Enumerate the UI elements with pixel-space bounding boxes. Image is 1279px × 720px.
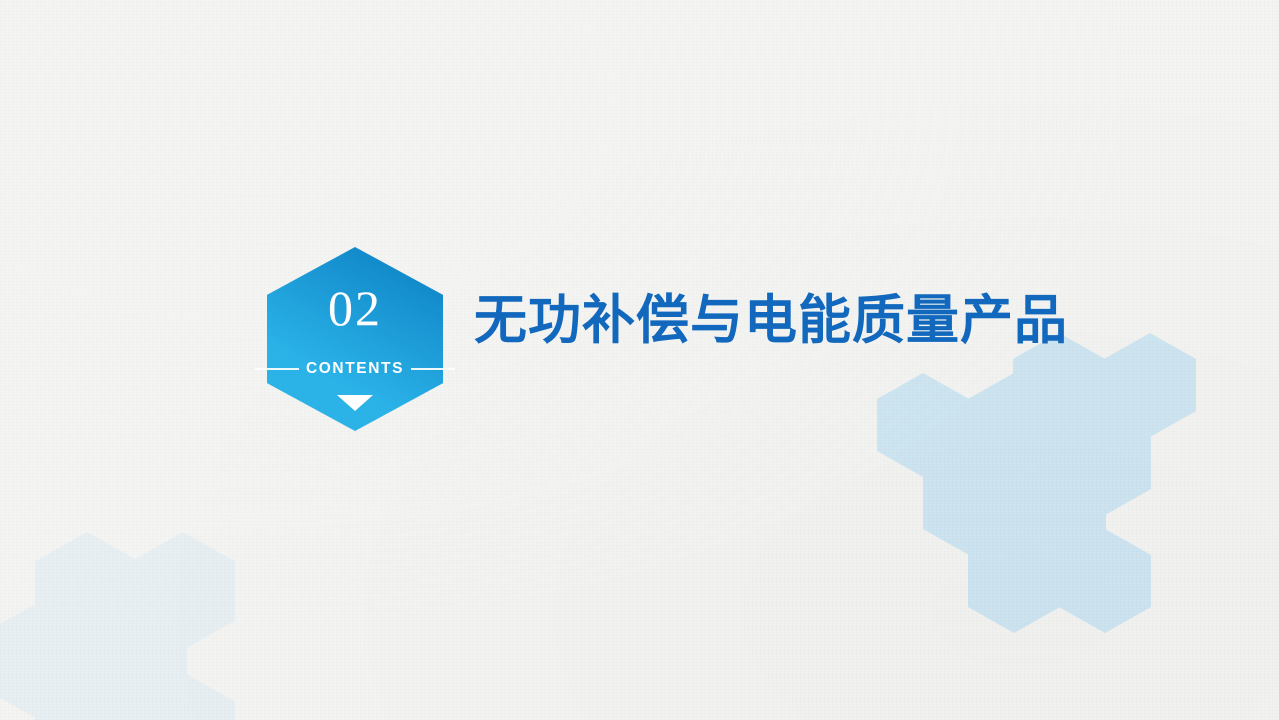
paper-texture-overlay bbox=[0, 0, 1279, 720]
rule-left bbox=[255, 368, 299, 370]
hexagon-shape bbox=[35, 672, 139, 720]
contents-rule-row: CONTENTS bbox=[255, 361, 455, 377]
hexagon-shape bbox=[968, 529, 1060, 633]
contents-label: CONTENTS bbox=[306, 361, 404, 377]
hexagon-shape bbox=[0, 602, 91, 720]
hexagon-shape bbox=[1014, 451, 1106, 555]
section-number: 02 bbox=[267, 283, 443, 333]
hexagon-shape bbox=[1059, 411, 1151, 515]
rule-right bbox=[411, 368, 455, 370]
section-title: 无功补偿与电能质量产品 bbox=[474, 294, 1068, 347]
hex-decoration-left bbox=[0, 0, 1279, 720]
hexagon-shape bbox=[923, 451, 1015, 555]
hexagon-shape bbox=[1104, 333, 1196, 437]
triangle-down-icon bbox=[337, 395, 373, 411]
hexagon-shape bbox=[83, 602, 187, 720]
hex-decoration-right bbox=[0, 0, 1279, 720]
hexagon-shape bbox=[877, 373, 969, 477]
presentation-slide: 02 CONTENTS 无功补偿与电能质量产品 bbox=[0, 0, 1279, 720]
hexagon-shape bbox=[131, 672, 235, 720]
hexagon-shape bbox=[35, 532, 139, 650]
hexagon-shape bbox=[131, 532, 235, 650]
section-badge[interactable]: 02 CONTENTS bbox=[267, 247, 443, 431]
hexagon-shape bbox=[1059, 529, 1151, 633]
hexagon-shape bbox=[968, 373, 1060, 477]
